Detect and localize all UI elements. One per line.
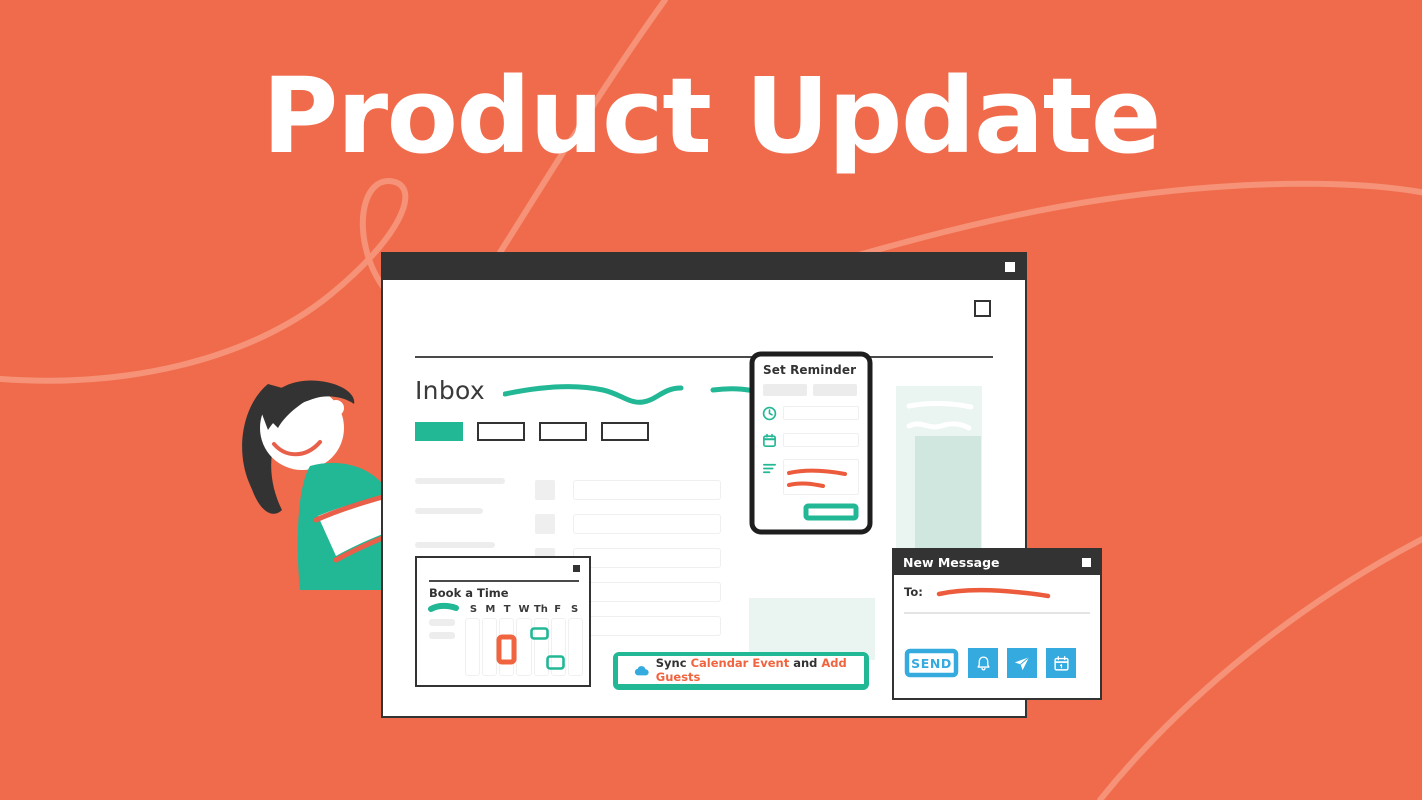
book-a-time-divider: [429, 580, 579, 582]
inbox-heading: Inbox: [415, 376, 485, 405]
maximize-square-icon[interactable]: [573, 565, 580, 572]
selected-slot-orange[interactable]: [496, 634, 518, 666]
book-a-time-placeholder-2: [429, 632, 455, 639]
row-field-1[interactable]: [573, 480, 721, 500]
new-message-titlebar: New Message: [894, 550, 1100, 575]
reminder-bell-button[interactable]: [968, 648, 998, 678]
day-label-row: S M T W Th F S: [465, 604, 583, 615]
day-label-2: T: [499, 604, 516, 615]
row-field-4[interactable]: [573, 582, 721, 602]
row-field-3[interactable]: [573, 548, 721, 568]
reminder-chip-2: [813, 384, 857, 396]
row-field-5[interactable]: [573, 616, 721, 636]
calendar-icon: [1053, 655, 1070, 672]
new-message-window[interactable]: New Message To: SEND: [892, 548, 1102, 700]
send-button-label: SEND: [911, 656, 952, 671]
day-label-1: M: [482, 604, 499, 615]
select-all-checkbox[interactable]: [974, 300, 991, 317]
inbox-tab-list[interactable]: [415, 422, 649, 441]
cloud-icon: [634, 664, 649, 677]
poster-canvas: Product Update: [0, 0, 1422, 800]
sync-calendar-bar[interactable]: Sync Calendar Event and Add Guests: [613, 652, 869, 690]
send-paper-plane-button[interactable]: [1007, 648, 1037, 678]
row-checkbox-2[interactable]: [535, 514, 555, 534]
new-message-body: To: SEND: [894, 575, 1100, 698]
to-field-underline: [904, 612, 1090, 614]
day-label-0: S: [465, 604, 482, 615]
sync-seg-0: Sync: [656, 656, 691, 670]
preview-panel-bottom: [749, 598, 875, 660]
sync-bar-label: Sync Calendar Event and Add Guests: [656, 656, 864, 684]
reminder-time-field[interactable]: [783, 406, 859, 420]
clock-icon: [762, 406, 777, 421]
book-a-time-placeholder-1: [429, 619, 455, 626]
tab-1[interactable]: [477, 422, 525, 441]
calendar-icon: [762, 433, 777, 448]
new-message-actions[interactable]: SEND: [904, 648, 1076, 678]
schedule-calendar-button[interactable]: [1046, 648, 1076, 678]
row-field-2[interactable]: [573, 514, 721, 534]
bell-icon: [975, 655, 992, 672]
page-title: Product Update: [0, 62, 1422, 171]
day-label-3: W: [516, 604, 533, 615]
set-reminder-card[interactable]: Set Reminder: [749, 351, 873, 535]
selected-slot-green-f[interactable]: [545, 654, 567, 672]
sidebar-placeholder-line-2: [415, 508, 483, 514]
tab-3[interactable]: [601, 422, 649, 441]
browser-titlebar: [383, 254, 1025, 280]
book-a-time-title: Book a Time: [429, 586, 509, 600]
tab-2[interactable]: [539, 422, 587, 441]
reminder-title: Set Reminder: [763, 363, 856, 377]
row-checkbox-1[interactable]: [535, 480, 555, 500]
maximize-square-icon[interactable]: [1005, 262, 1015, 272]
header-divider: [415, 356, 993, 358]
book-a-time-green-scribble: [428, 602, 460, 614]
day-column-6[interactable]: [568, 618, 583, 676]
book-a-time-window[interactable]: Book a Time S M T W Th F S: [415, 556, 591, 687]
notes-icon: [762, 461, 777, 476]
maximize-square-icon[interactable]: [1082, 558, 1091, 567]
send-button[interactable]: SEND: [904, 648, 959, 678]
paper-plane-icon: [1013, 654, 1031, 672]
day-label-6: S: [566, 604, 583, 615]
day-column-0[interactable]: [465, 618, 480, 676]
reminder-notes-scribble: [787, 465, 857, 493]
selected-slot-green-th[interactable]: [529, 626, 551, 642]
sync-seg-1[interactable]: Calendar Event: [691, 656, 790, 670]
tab-0[interactable]: [415, 422, 463, 441]
preview-panel-body: [915, 436, 981, 548]
sync-bar-content[interactable]: Sync Calendar Event and Add Guests: [618, 656, 864, 684]
day-label-5: F: [549, 604, 566, 615]
day-column-1[interactable]: [482, 618, 497, 676]
reminder-submit-button[interactable]: [803, 503, 859, 521]
reminder-chip-1: [763, 384, 807, 396]
new-message-title: New Message: [903, 555, 1000, 570]
reminder-date-field[interactable]: [783, 433, 859, 447]
sidebar-placeholder-line-1: [415, 478, 505, 484]
sync-seg-2: and: [789, 656, 821, 670]
sidebar-placeholder-line-3: [415, 542, 495, 548]
to-value-scribble[interactable]: [936, 585, 1051, 601]
preview-panel-scribble: [903, 398, 981, 442]
to-label: To:: [904, 585, 923, 599]
day-label-4: Th: [532, 604, 549, 615]
